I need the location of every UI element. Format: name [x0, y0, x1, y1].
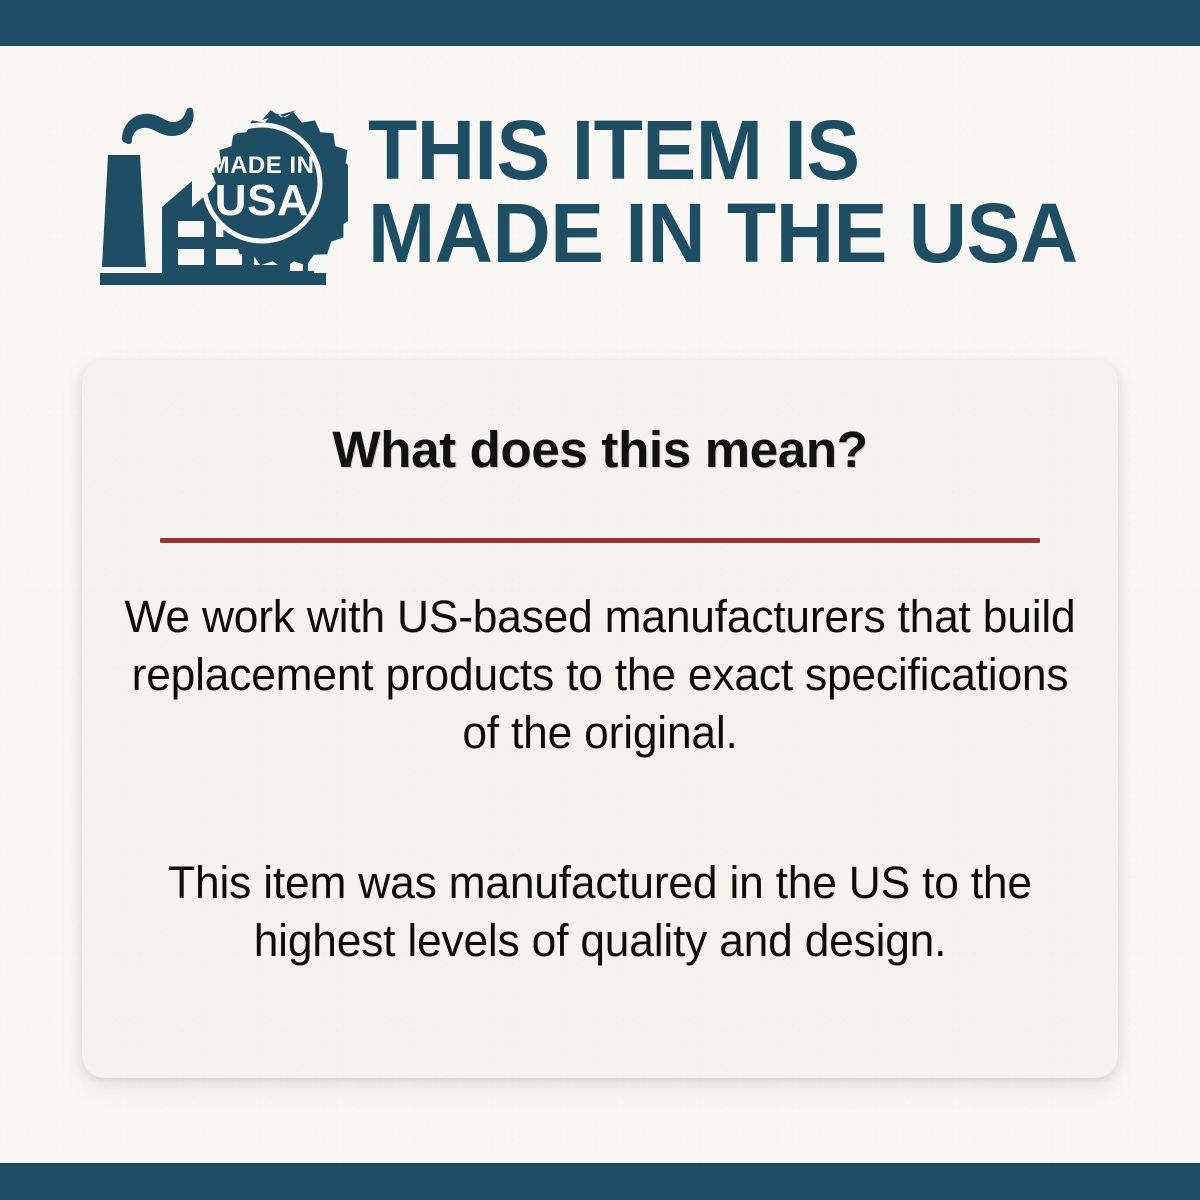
page-title: THIS ITEM IS MADE IN THE USA — [368, 109, 1107, 283]
badge-line2-text: USA — [215, 176, 309, 225]
factory-icon: MADE IN USA — [100, 103, 348, 289]
explanation-card: What does this mean? We work with US-bas… — [82, 360, 1118, 1078]
title-line-2: MADE IN THE USA — [368, 192, 1078, 275]
paragraph-1: We work with US-based manufacturers that… — [117, 588, 1082, 762]
header: MADE IN USA THIS ITEM IS MADE IN THE USA — [0, 96, 1200, 296]
logo-block: MADE IN USA — [100, 103, 348, 289]
card-body: We work with US-based manufacturers that… — [110, 588, 1090, 970]
paragraph-2: This item was manufactured in the US to … — [117, 854, 1082, 970]
bottom-accent-bar — [0, 1163, 1200, 1200]
heading-divider — [160, 538, 1040, 543]
title-line-1: THIS ITEM IS — [368, 109, 1078, 192]
promo-banner: MADE IN USA THIS ITEM IS MADE IN THE USA… — [0, 0, 1200, 1200]
card-heading: What does this mean? — [82, 420, 1118, 479]
top-accent-bar — [0, 0, 1200, 46]
badge-line1-text: MADE IN — [210, 152, 315, 179]
